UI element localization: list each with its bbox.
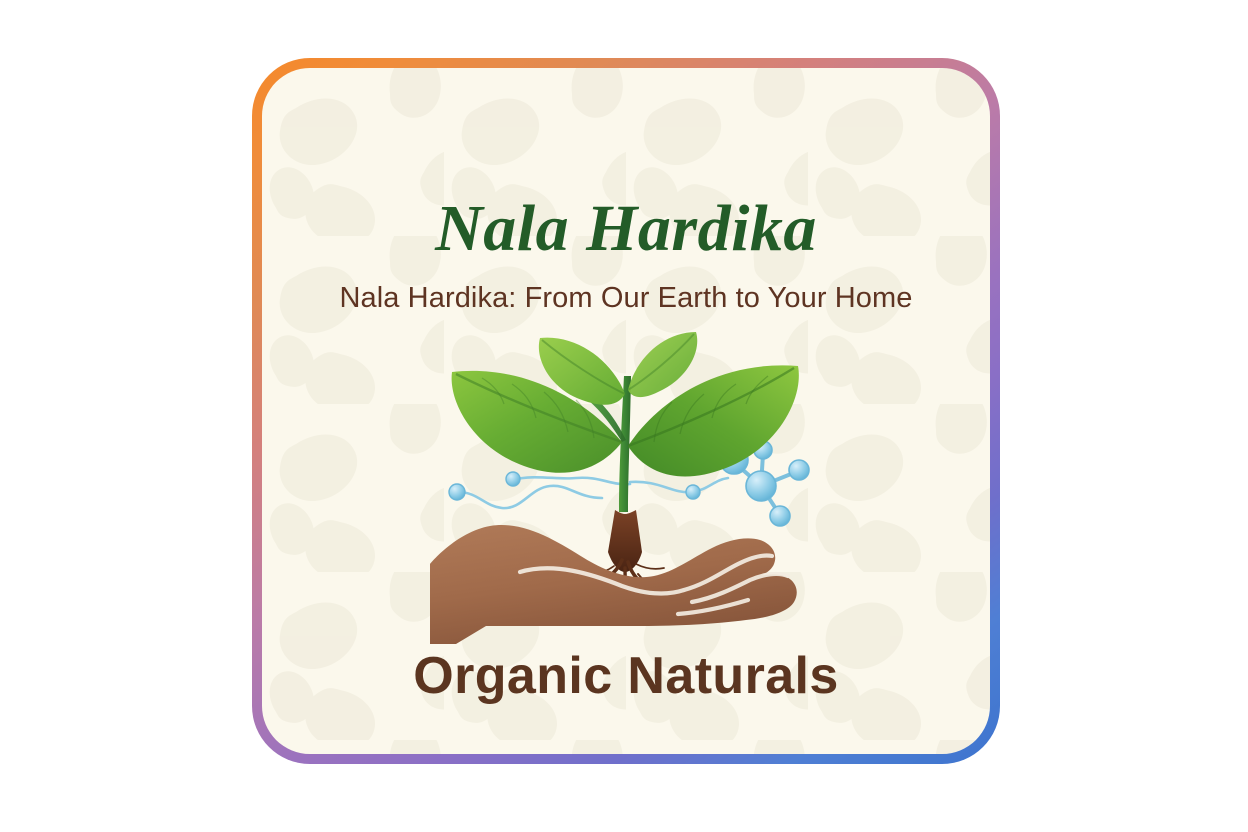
seedling-in-hand-illustration <box>416 314 836 644</box>
leaf-icon <box>628 332 697 397</box>
flow-node-icon <box>686 485 700 499</box>
flow-node-icon <box>449 484 465 500</box>
flow-node-icon <box>506 472 520 486</box>
brand-footer-text: Organic Naturals <box>262 650 990 702</box>
brand-logo-card: Nala Hardika Nala Hardika: From Our Eart… <box>252 58 1000 764</box>
page-title: Nala Hardika <box>262 196 990 262</box>
card-inner-surface: Nala Hardika Nala Hardika: From Our Eart… <box>262 68 990 754</box>
logo-canvas: Nala Hardika Nala Hardika: From Our Eart… <box>0 0 1248 832</box>
brand-tagline: Nala Hardika: From Our Earth to Your Hom… <box>262 284 990 313</box>
root-crown-icon <box>608 510 642 572</box>
